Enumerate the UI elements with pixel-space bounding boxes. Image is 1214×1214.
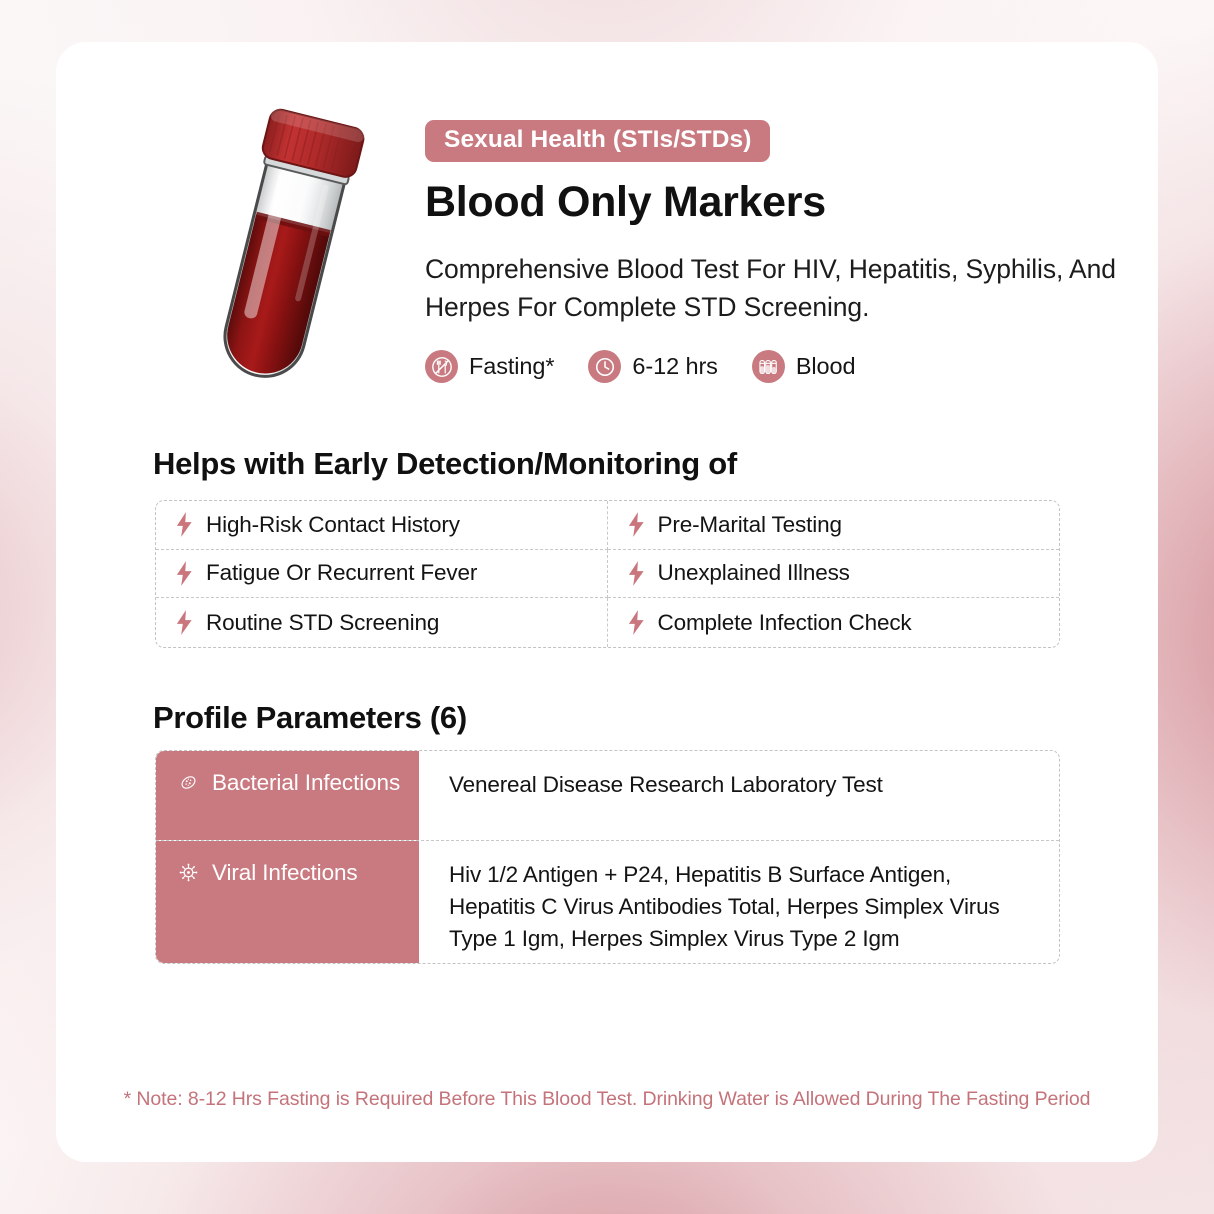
meta-info-row: Fasting* 6-12 hrs [425,350,1125,383]
helps-item-label: High-Risk Contact History [206,512,460,538]
hero-text-block: Sexual Health (STIs/STDs) Blood Only Mar… [425,120,1125,383]
category-badge: Sexual Health (STIs/STDs) [425,120,770,162]
parameters-section-title: Profile Parameters (6) [153,700,467,736]
helps-grid: High-Risk Contact History Pre-Marital Te… [155,500,1060,648]
meta-label-duration: 6-12 hrs [632,353,717,380]
page-title: Blood Only Markers [425,179,1125,225]
product-card: Sexual Health (STIs/STDs) Blood Only Mar… [56,42,1158,1162]
blood-collection-tube-icon [186,107,386,397]
meta-item-duration: 6-12 hrs [588,350,717,383]
helps-item-label: Complete Infection Check [658,610,912,636]
parameter-values-cell: Hiv 1/2 Antigen + P24, Hepatitis B Surfa… [419,841,1059,963]
helps-item-label: Fatigue Or Recurrent Fever [206,560,477,586]
table-row: Viral Infections Hiv 1/2 Antigen + P24, … [156,841,1059,963]
meta-label-sample: Blood [796,353,856,380]
helps-item-label: Routine STD Screening [206,610,439,636]
parameter-category-label: Bacterial Infections [212,768,400,798]
lightning-bolt-icon [627,512,646,537]
parameters-table: Bacterial Infections Venereal Disease Re… [155,750,1060,964]
hero-section: Sexual Health (STIs/STDs) Blood Only Mar… [56,42,1158,402]
lightning-bolt-icon [175,561,194,586]
lightning-bolt-icon [175,610,194,635]
clock-icon [588,350,621,383]
lightning-bolt-icon [175,512,194,537]
blood-vials-icon [752,350,785,383]
fasting-note: * Note: 8-12 Hrs Fasting is Required Bef… [56,1088,1158,1111]
meta-item-fasting: Fasting* [425,350,554,383]
lightning-bolt-icon [627,561,646,586]
virus-icon [178,862,199,883]
table-row: Bacterial Infections Venereal Disease Re… [156,751,1059,841]
parameter-category-cell: Bacterial Infections [156,751,419,840]
meta-item-sample: Blood [752,350,856,383]
helps-item-label: Pre-Marital Testing [658,512,842,538]
meta-label-fasting: Fasting* [469,353,554,380]
parameter-category-cell: Viral Infections [156,841,419,963]
product-description: Comprehensive Blood Test For HIV, Hepati… [425,251,1125,326]
helps-item: Routine STD Screening [156,598,608,647]
bacteria-icon [178,772,199,793]
helps-item: Pre-Marital Testing [608,501,1060,550]
helps-item: Complete Infection Check [608,598,1060,647]
helps-item-label: Unexplained Illness [658,560,850,586]
helps-section-title: Helps with Early Detection/Monitoring of [153,446,737,482]
lightning-bolt-icon [627,610,646,635]
no-food-fasting-icon [425,350,458,383]
helps-item: Fatigue Or Recurrent Fever [156,550,608,599]
parameter-category-label: Viral Infections [212,858,358,888]
parameter-values-cell: Venereal Disease Research Laboratory Tes… [419,751,1059,840]
helps-item: Unexplained Illness [608,550,1060,599]
helps-item: High-Risk Contact History [156,501,608,550]
